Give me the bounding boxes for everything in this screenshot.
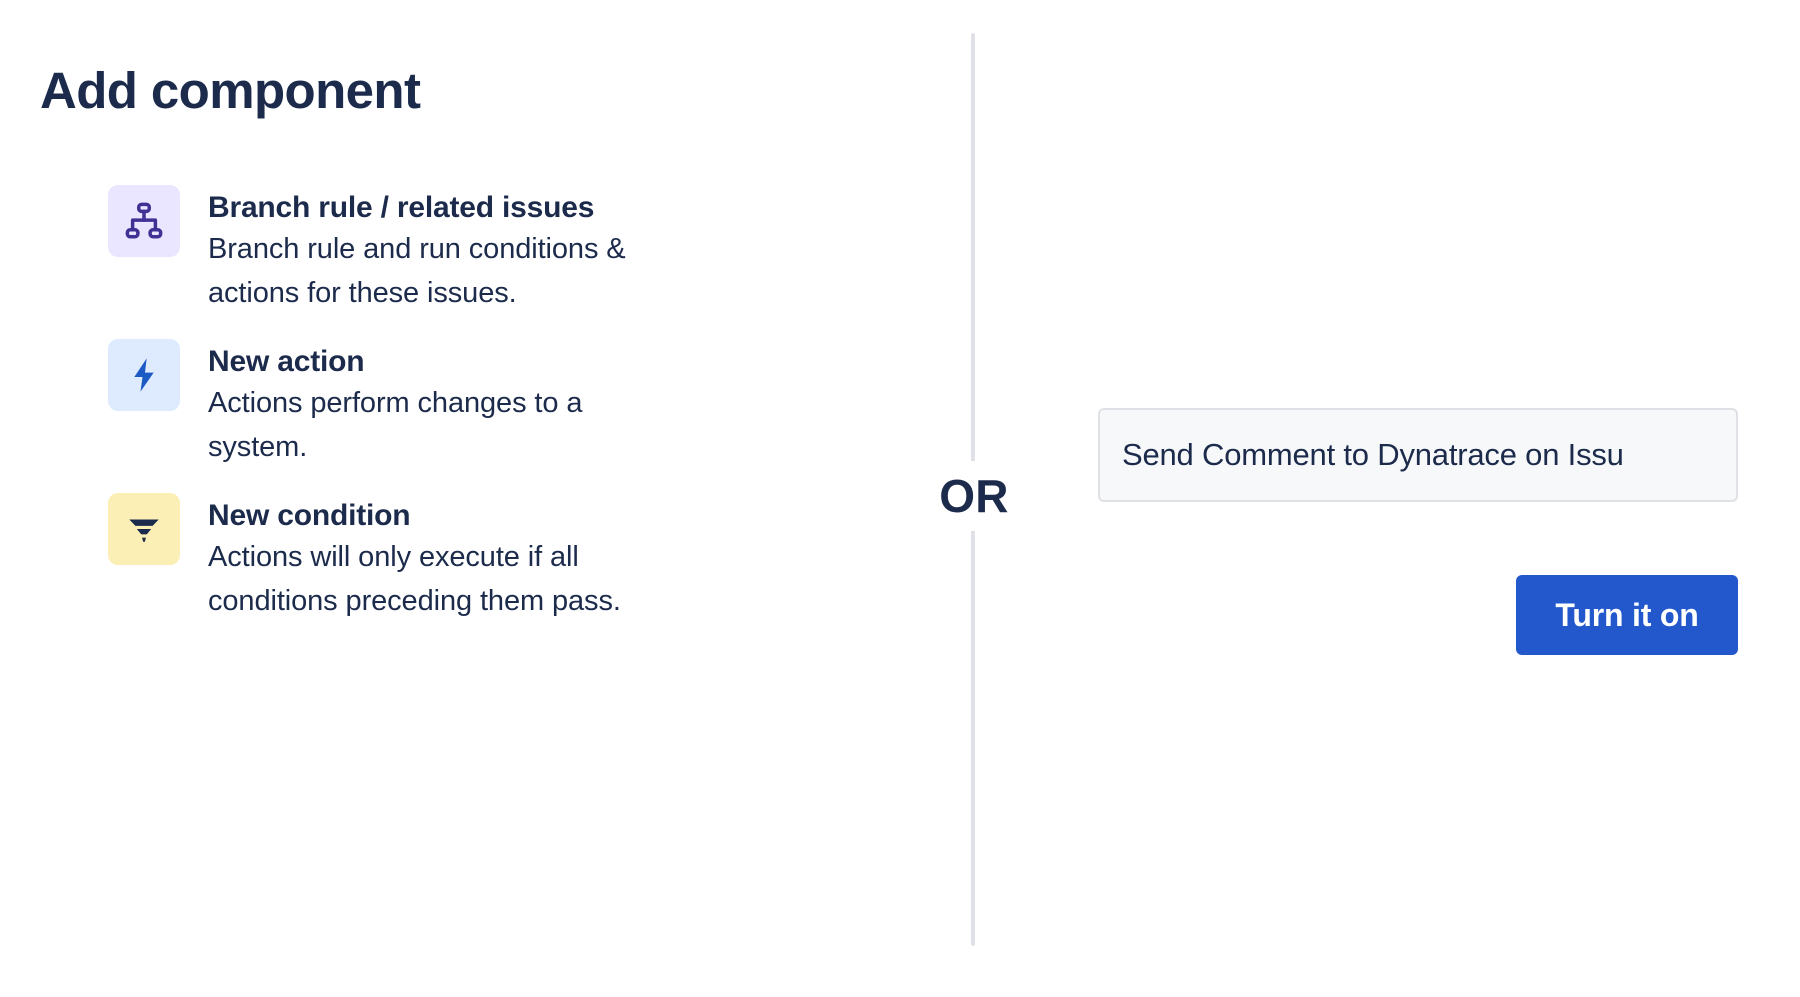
component-option-list: Branch rule / related issues Branch rule… bbox=[108, 185, 728, 623]
component-option-description: Actions will only execute if all conditi… bbox=[208, 535, 678, 623]
component-option-description: Branch rule and run conditions & actions… bbox=[208, 227, 678, 315]
component-option-text: New condition Actions will only execute … bbox=[208, 493, 728, 623]
filter-funnel-icon bbox=[108, 493, 180, 565]
component-option-title: New condition bbox=[208, 496, 728, 535]
component-option-description: Actions perform changes to a system. bbox=[208, 381, 678, 469]
branch-rule-icon bbox=[108, 185, 180, 257]
turn-it-on-button[interactable]: Turn it on bbox=[1516, 575, 1738, 655]
component-option-new-condition[interactable]: New condition Actions will only execute … bbox=[108, 493, 728, 623]
rule-name-value: Send Comment to Dynatrace on Issu bbox=[1122, 436, 1624, 473]
component-option-title: New action bbox=[208, 342, 728, 381]
component-option-branch-rule[interactable]: Branch rule / related issues Branch rule… bbox=[108, 185, 728, 315]
or-label: OR bbox=[928, 461, 1020, 531]
rule-name-input[interactable]: Send Comment to Dynatrace on Issu bbox=[1098, 408, 1738, 502]
page-title: Add component bbox=[40, 62, 420, 121]
add-component-page: Add component Branch rule / related issu… bbox=[0, 0, 1800, 997]
component-option-title: Branch rule / related issues bbox=[208, 188, 728, 227]
component-option-new-action[interactable]: New action Actions perform changes to a … bbox=[108, 339, 728, 469]
component-option-text: New action Actions perform changes to a … bbox=[208, 339, 728, 469]
component-option-text: Branch rule / related issues Branch rule… bbox=[208, 185, 728, 315]
lightning-bolt-icon bbox=[108, 339, 180, 411]
